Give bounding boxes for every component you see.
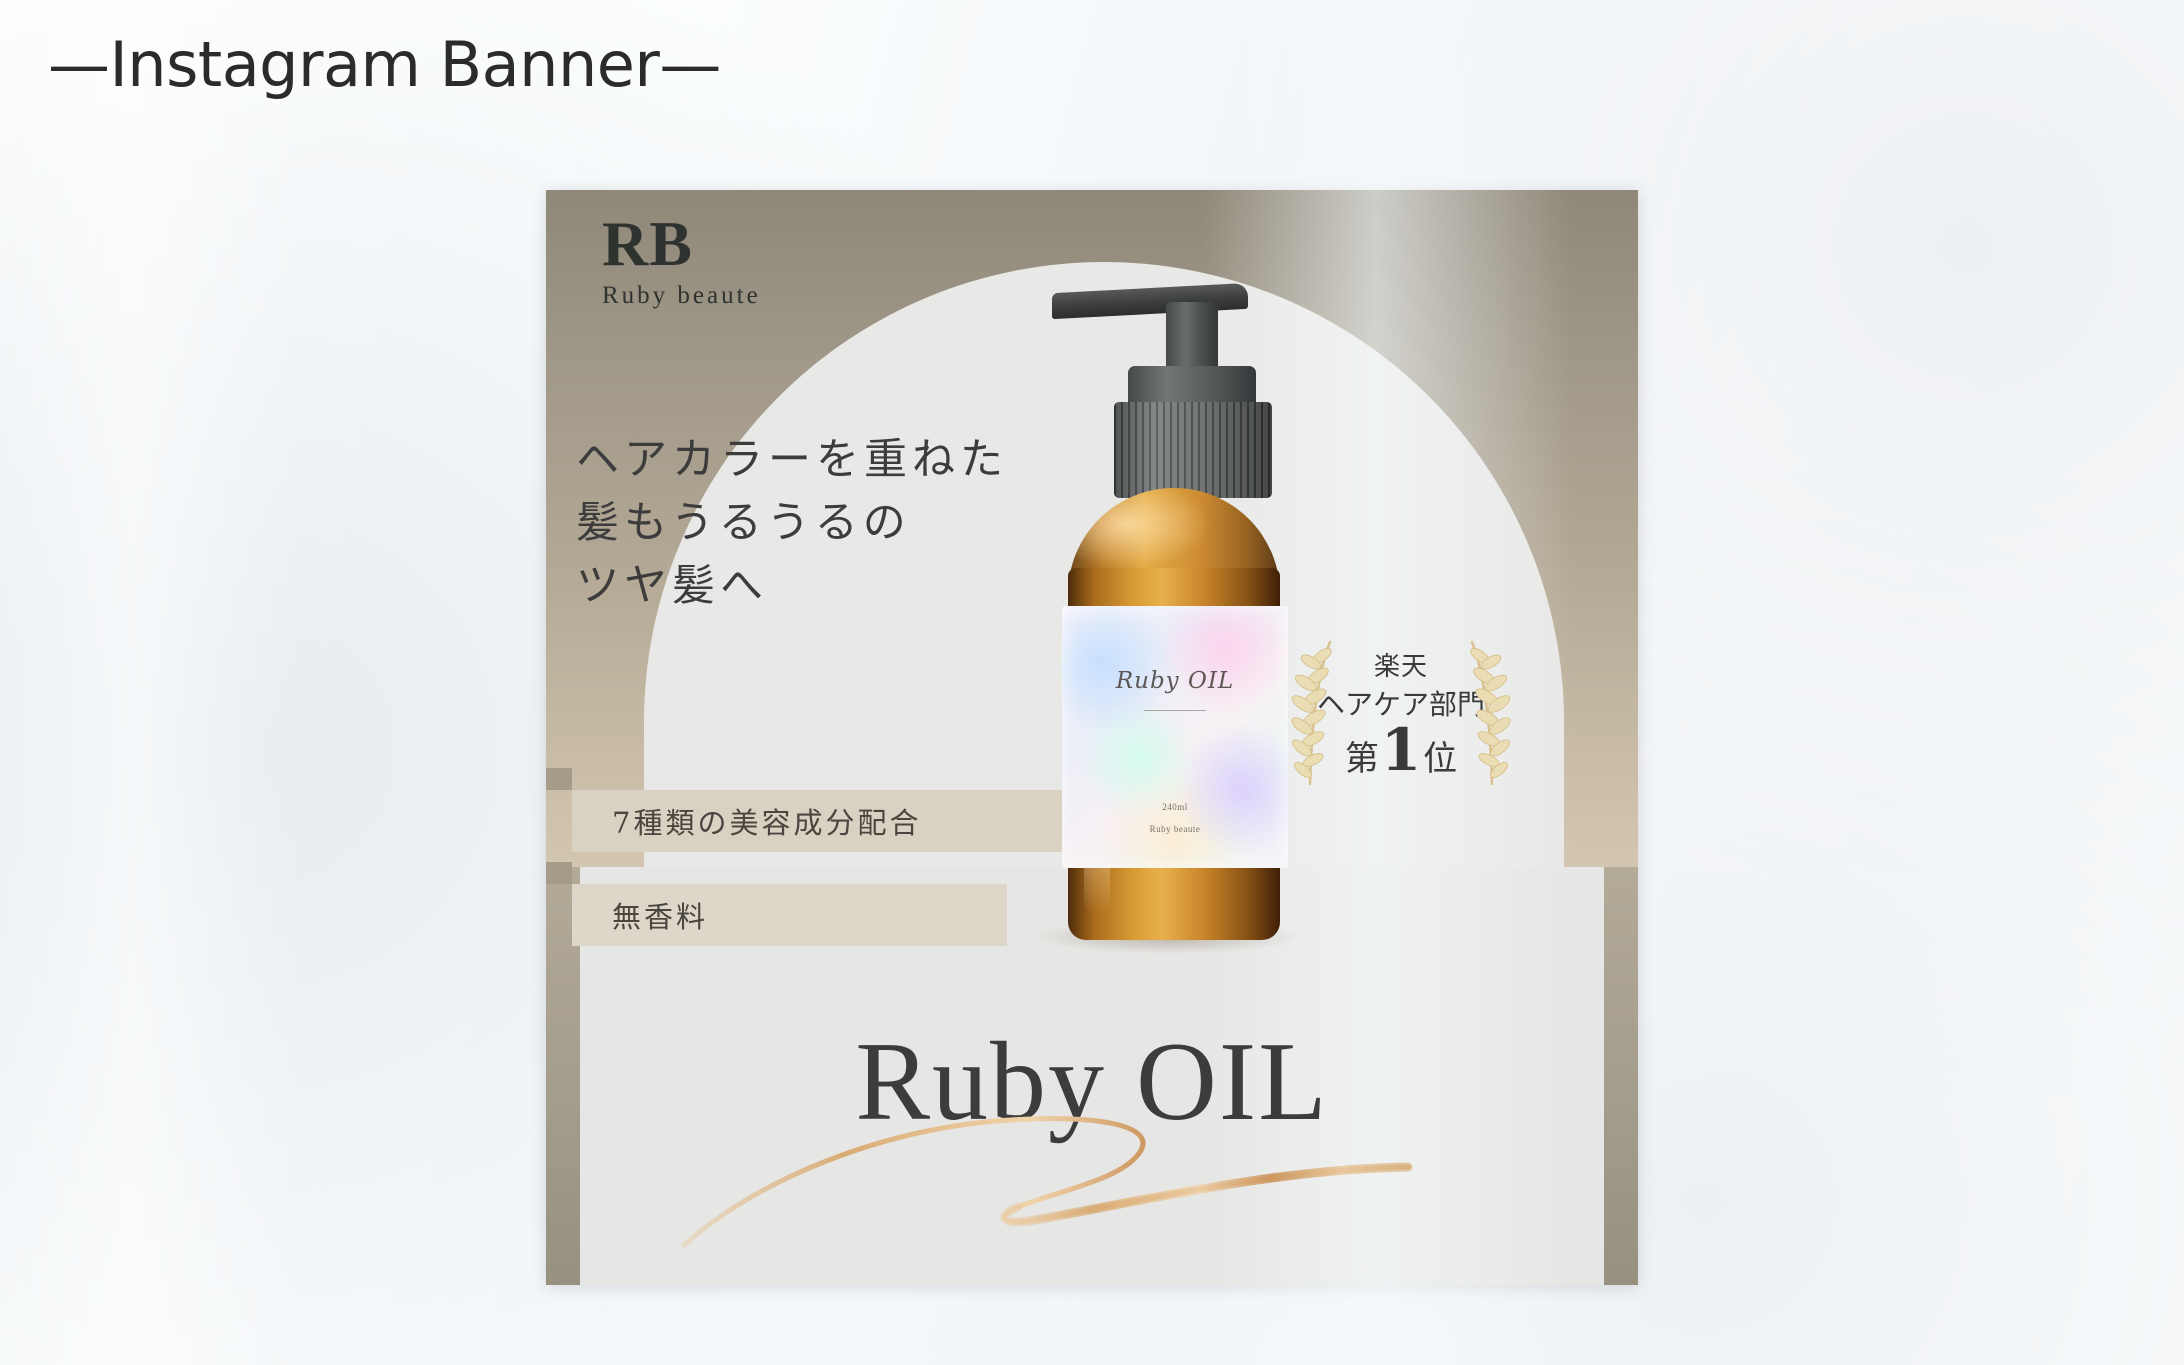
tag-accent-block bbox=[546, 768, 572, 790]
pump-ribbed-cap bbox=[1114, 402, 1272, 498]
headline-line-1: ヘアカラーを重ねた bbox=[576, 430, 1008, 491]
gold-swoosh-flourish-icon bbox=[666, 1095, 1536, 1285]
feature-tag-ingredients: 7種類の美容成分配合 bbox=[572, 790, 1062, 852]
page-title: —Instagram Banner— bbox=[48, 28, 721, 101]
award-rank-number: 1 bbox=[1381, 723, 1421, 778]
headline-line-3: ツヤ髪へ bbox=[576, 556, 1008, 617]
tag-accent-block bbox=[546, 862, 572, 884]
laurel-branch-left-icon bbox=[1290, 638, 1336, 790]
feature-tag-fragrance-free: 無香料 bbox=[572, 884, 1007, 946]
bottle-label-volume: 240ml bbox=[1062, 802, 1288, 812]
product-bottle: Ruby OIL 240ml Ruby beaute bbox=[1016, 288, 1326, 948]
slide-canvas: —Instagram Banner— RB Ruby beaute ヘアカラーを… bbox=[0, 0, 2184, 1365]
award-rank-prefix: 第 bbox=[1345, 739, 1379, 779]
bottle-label: Ruby OIL 240ml Ruby beaute bbox=[1062, 606, 1288, 868]
award-badge-text: 楽天 ヘアケア部門 第 1 位 bbox=[1317, 652, 1485, 779]
feature-tag-label: 無香料 bbox=[572, 894, 708, 936]
pump-nozzle bbox=[1052, 283, 1248, 319]
logo-monogram: RB bbox=[602, 212, 761, 276]
laurel-branch-right-icon bbox=[1466, 638, 1512, 790]
award-line-rank: 第 1 位 bbox=[1317, 723, 1485, 779]
instagram-banner: RB Ruby beaute ヘアカラーを重ねた 髪もうるうるの ツヤ髪へ Ru… bbox=[546, 190, 1638, 1285]
brand-logo: RB Ruby beaute bbox=[602, 212, 761, 310]
award-badge: 楽天 ヘアケア部門 第 1 位 bbox=[1286, 628, 1516, 803]
headline-line-2: 髪もうるうるの bbox=[576, 493, 1008, 554]
bottle-label-house: Ruby beaute bbox=[1062, 824, 1288, 834]
pump-neck bbox=[1166, 302, 1218, 376]
bottle-label-divider bbox=[1144, 710, 1206, 711]
bottle-label-brand: Ruby OIL bbox=[1062, 668, 1288, 694]
headline-copy: ヘアカラーを重ねた 髪もうるうるの ツヤ髪へ bbox=[576, 430, 1008, 619]
logo-wordmark: Ruby beaute bbox=[602, 282, 761, 310]
award-rank-suffix: 位 bbox=[1423, 739, 1457, 779]
feature-tag-label: 7種類の美容成分配合 bbox=[572, 800, 921, 842]
award-line-rakuten: 楽天 bbox=[1317, 652, 1485, 683]
